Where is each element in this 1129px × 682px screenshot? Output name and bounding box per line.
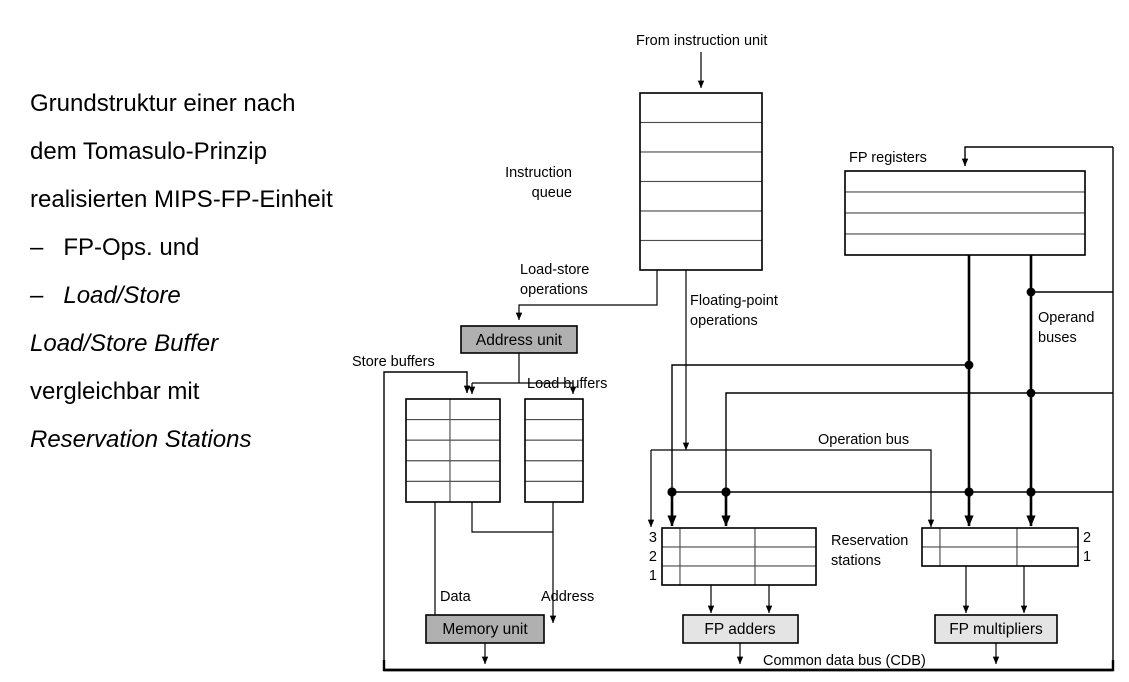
- load-buffers-box: [525, 399, 583, 502]
- junction-dot-operand-upper: [1027, 288, 1036, 297]
- tomasulo-diagram: From instruction unit Instruction queue …: [0, 0, 1129, 682]
- wire-operation-bus: [686, 450, 931, 527]
- label-operand-buses-line1: Operand: [1038, 310, 1094, 326]
- label-reservation-stations-line2: stations: [831, 553, 881, 569]
- label-load-buffers: Load buffers: [527, 376, 607, 392]
- address-unit-box: Address unit: [461, 326, 577, 353]
- label-load-store-operations-line2: operations: [520, 282, 588, 298]
- label-operation-bus: Operation bus: [818, 432, 909, 448]
- label-from-instruction-unit: From instruction unit: [636, 33, 767, 49]
- label-reservation-stations-line1: Reservation: [831, 533, 908, 549]
- label-instruction-queue-line1: Instruction: [505, 165, 572, 181]
- rs-mult-row-label-1: 1: [1083, 549, 1091, 565]
- fp-registers-box: [845, 171, 1085, 255]
- label-instruction-queue-line2: queue: [532, 185, 572, 201]
- store-buffers-box: [406, 399, 500, 502]
- label-memory-unit: Memory unit: [442, 621, 528, 638]
- junction-dot-operand-left-upper: [965, 361, 974, 370]
- cdb-frame: [384, 660, 1113, 670]
- rs-adders-row-label-3: 3: [649, 530, 657, 546]
- label-common-data-bus: Common data bus (CDB): [763, 653, 926, 669]
- label-fp-operations-line2: operations: [690, 313, 758, 329]
- reservation-stations-multipliers-box: [922, 528, 1078, 566]
- label-data: Data: [440, 589, 472, 605]
- label-address-unit: Address unit: [476, 332, 563, 349]
- label-fp-operations-line1: Floating-point: [690, 293, 778, 309]
- label-fp-multipliers: FP multipliers: [949, 621, 1043, 638]
- fp-multipliers-box: FP multipliers: [935, 615, 1057, 643]
- label-load-store-operations-line1: Load-store: [520, 262, 589, 278]
- wire-cdb-to-fp-registers: [965, 147, 1113, 166]
- wire-operand-left-run-upper: [672, 365, 969, 492]
- instruction-queue-box: [640, 93, 762, 270]
- label-fp-adders: FP adders: [704, 621, 775, 638]
- label-address: Address: [541, 589, 594, 605]
- memory-unit-box: Memory unit: [426, 615, 544, 643]
- label-operand-buses-line2: buses: [1038, 330, 1077, 346]
- rs-mult-row-label-2: 2: [1083, 530, 1091, 546]
- label-store-buffers: Store buffers: [352, 354, 435, 370]
- wire-store-address-merge: [472, 502, 553, 532]
- reservation-stations-adders-box: [662, 528, 816, 585]
- slide-canvas: Grundstruktur einer nach dem Tomasulo-Pr…: [0, 0, 1129, 682]
- rs-adders-row-label-2: 2: [649, 549, 657, 565]
- fp-adders-box: FP adders: [683, 615, 798, 643]
- rs-adders-row-label-1: 1: [649, 568, 657, 584]
- label-fp-registers: FP registers: [849, 150, 927, 166]
